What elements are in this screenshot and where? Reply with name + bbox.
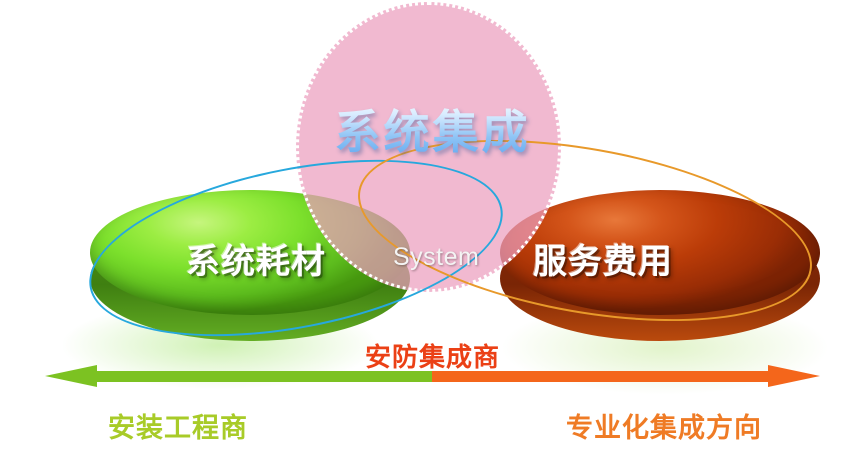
arrow-shaft-right — [432, 371, 770, 382]
center-overlap-label: System — [393, 243, 479, 272]
diagram-canvas: 系统耗材 服务费用 System 系统集成 安防集成商 安装工程商 专业化集成方… — [0, 0, 865, 450]
bidirectional-arrow — [45, 367, 820, 385]
arrow-head-right-icon — [768, 365, 820, 387]
arrow-shaft-left — [95, 371, 432, 382]
arrow-left-caption: 安装工程商 — [108, 406, 248, 445]
disc-label-service-cost: 服务费用 — [533, 234, 673, 283]
arrow-head-left-icon — [45, 365, 97, 387]
disc-label-system-consumables: 系统耗材 — [186, 234, 326, 283]
page-title: 系统集成 — [0, 96, 865, 162]
arrow-right-caption: 专业化集成方向 — [566, 406, 762, 445]
